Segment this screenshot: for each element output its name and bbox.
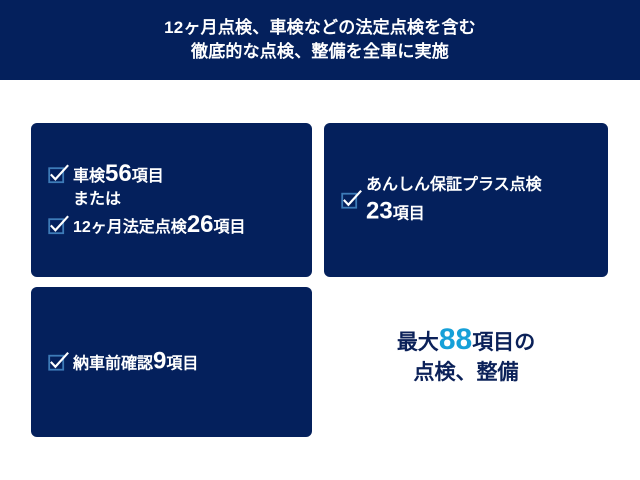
label-number: 26 (187, 211, 214, 238)
label-prefix: 納車前確認 (73, 356, 153, 373)
summary-line-2: 点検、整備 (324, 358, 608, 388)
label-prefix: 12ヶ月法定点検 (73, 219, 187, 236)
label-number: 56 (105, 160, 132, 187)
header-line-1: 12ヶ月点検、車検などの法定点検を含む (164, 16, 476, 40)
card-inspection-content: 車検56項目 または 12ヶ月法定点検26項目 (31, 159, 312, 241)
summary-line-1: 最大88項目の (324, 325, 608, 358)
label-suffix: 項目 (393, 206, 425, 223)
list-item: または (49, 190, 294, 210)
summary-middle: 項目 (472, 331, 514, 354)
summary-prefix: 最大 (397, 331, 439, 354)
summary-total: 最大88項目の 点検、整備 (324, 325, 608, 389)
header-line-2: 徹底的な点検、整備を全車に実施 (191, 40, 449, 64)
checkbox-placeholder (49, 193, 64, 208)
checkbox-checked-icon (342, 193, 357, 208)
card-warranty-content: あんしん保証プラス点検 23項目 (324, 174, 608, 227)
list-item: あんしん保証プラス点検 23項目 (342, 174, 590, 227)
label-number: 23 (366, 198, 393, 225)
label-suffix: 項目 (132, 168, 164, 185)
checkbox-checked-icon (49, 355, 64, 370)
label-line-1: あんしん保証プラス点検 (366, 176, 542, 196)
label-suffix: 項目 (166, 356, 198, 373)
card-inspection: 車検56項目 または 12ヶ月法定点検26項目 (31, 123, 312, 277)
list-item: 12ヶ月法定点検26項目 (49, 213, 294, 238)
label-prefix: 車検 (73, 168, 105, 185)
list-item-label: 納車前確認9項目 (73, 350, 198, 375)
summary-suffix: の (514, 331, 535, 354)
card-predelivery: 納車前確認9項目 (31, 287, 312, 437)
list-item: 車検56項目 (49, 162, 294, 187)
list-item: 納車前確認9項目 (49, 350, 294, 375)
label-prefix: または (73, 191, 121, 208)
card-warranty: あんしん保証プラス点検 23項目 (324, 123, 608, 277)
inspection-items-infographic: 12ヶ月点検、車検などの法定点検を含む 徹底的な点検、整備を全車に実施 車検56… (0, 0, 640, 480)
label-number: 9 (153, 348, 166, 375)
label-suffix: 項目 (214, 219, 246, 236)
card-predelivery-content: 納車前確認9項目 (31, 347, 312, 378)
label-line-2: 23項目 (366, 200, 542, 225)
list-item-label: 車検56項目 (73, 162, 164, 187)
header-banner: 12ヶ月点検、車検などの法定点検を含む 徹底的な点検、整備を全車に実施 (0, 0, 640, 80)
list-item-label: または (73, 190, 121, 210)
checkbox-checked-icon (49, 167, 64, 182)
list-item-label: 12ヶ月法定点検26項目 (73, 213, 246, 238)
list-item-label: あんしん保証プラス点検 23項目 (366, 174, 542, 227)
summary-highlight-number: 88 (439, 323, 472, 356)
checkbox-checked-icon (49, 218, 64, 233)
